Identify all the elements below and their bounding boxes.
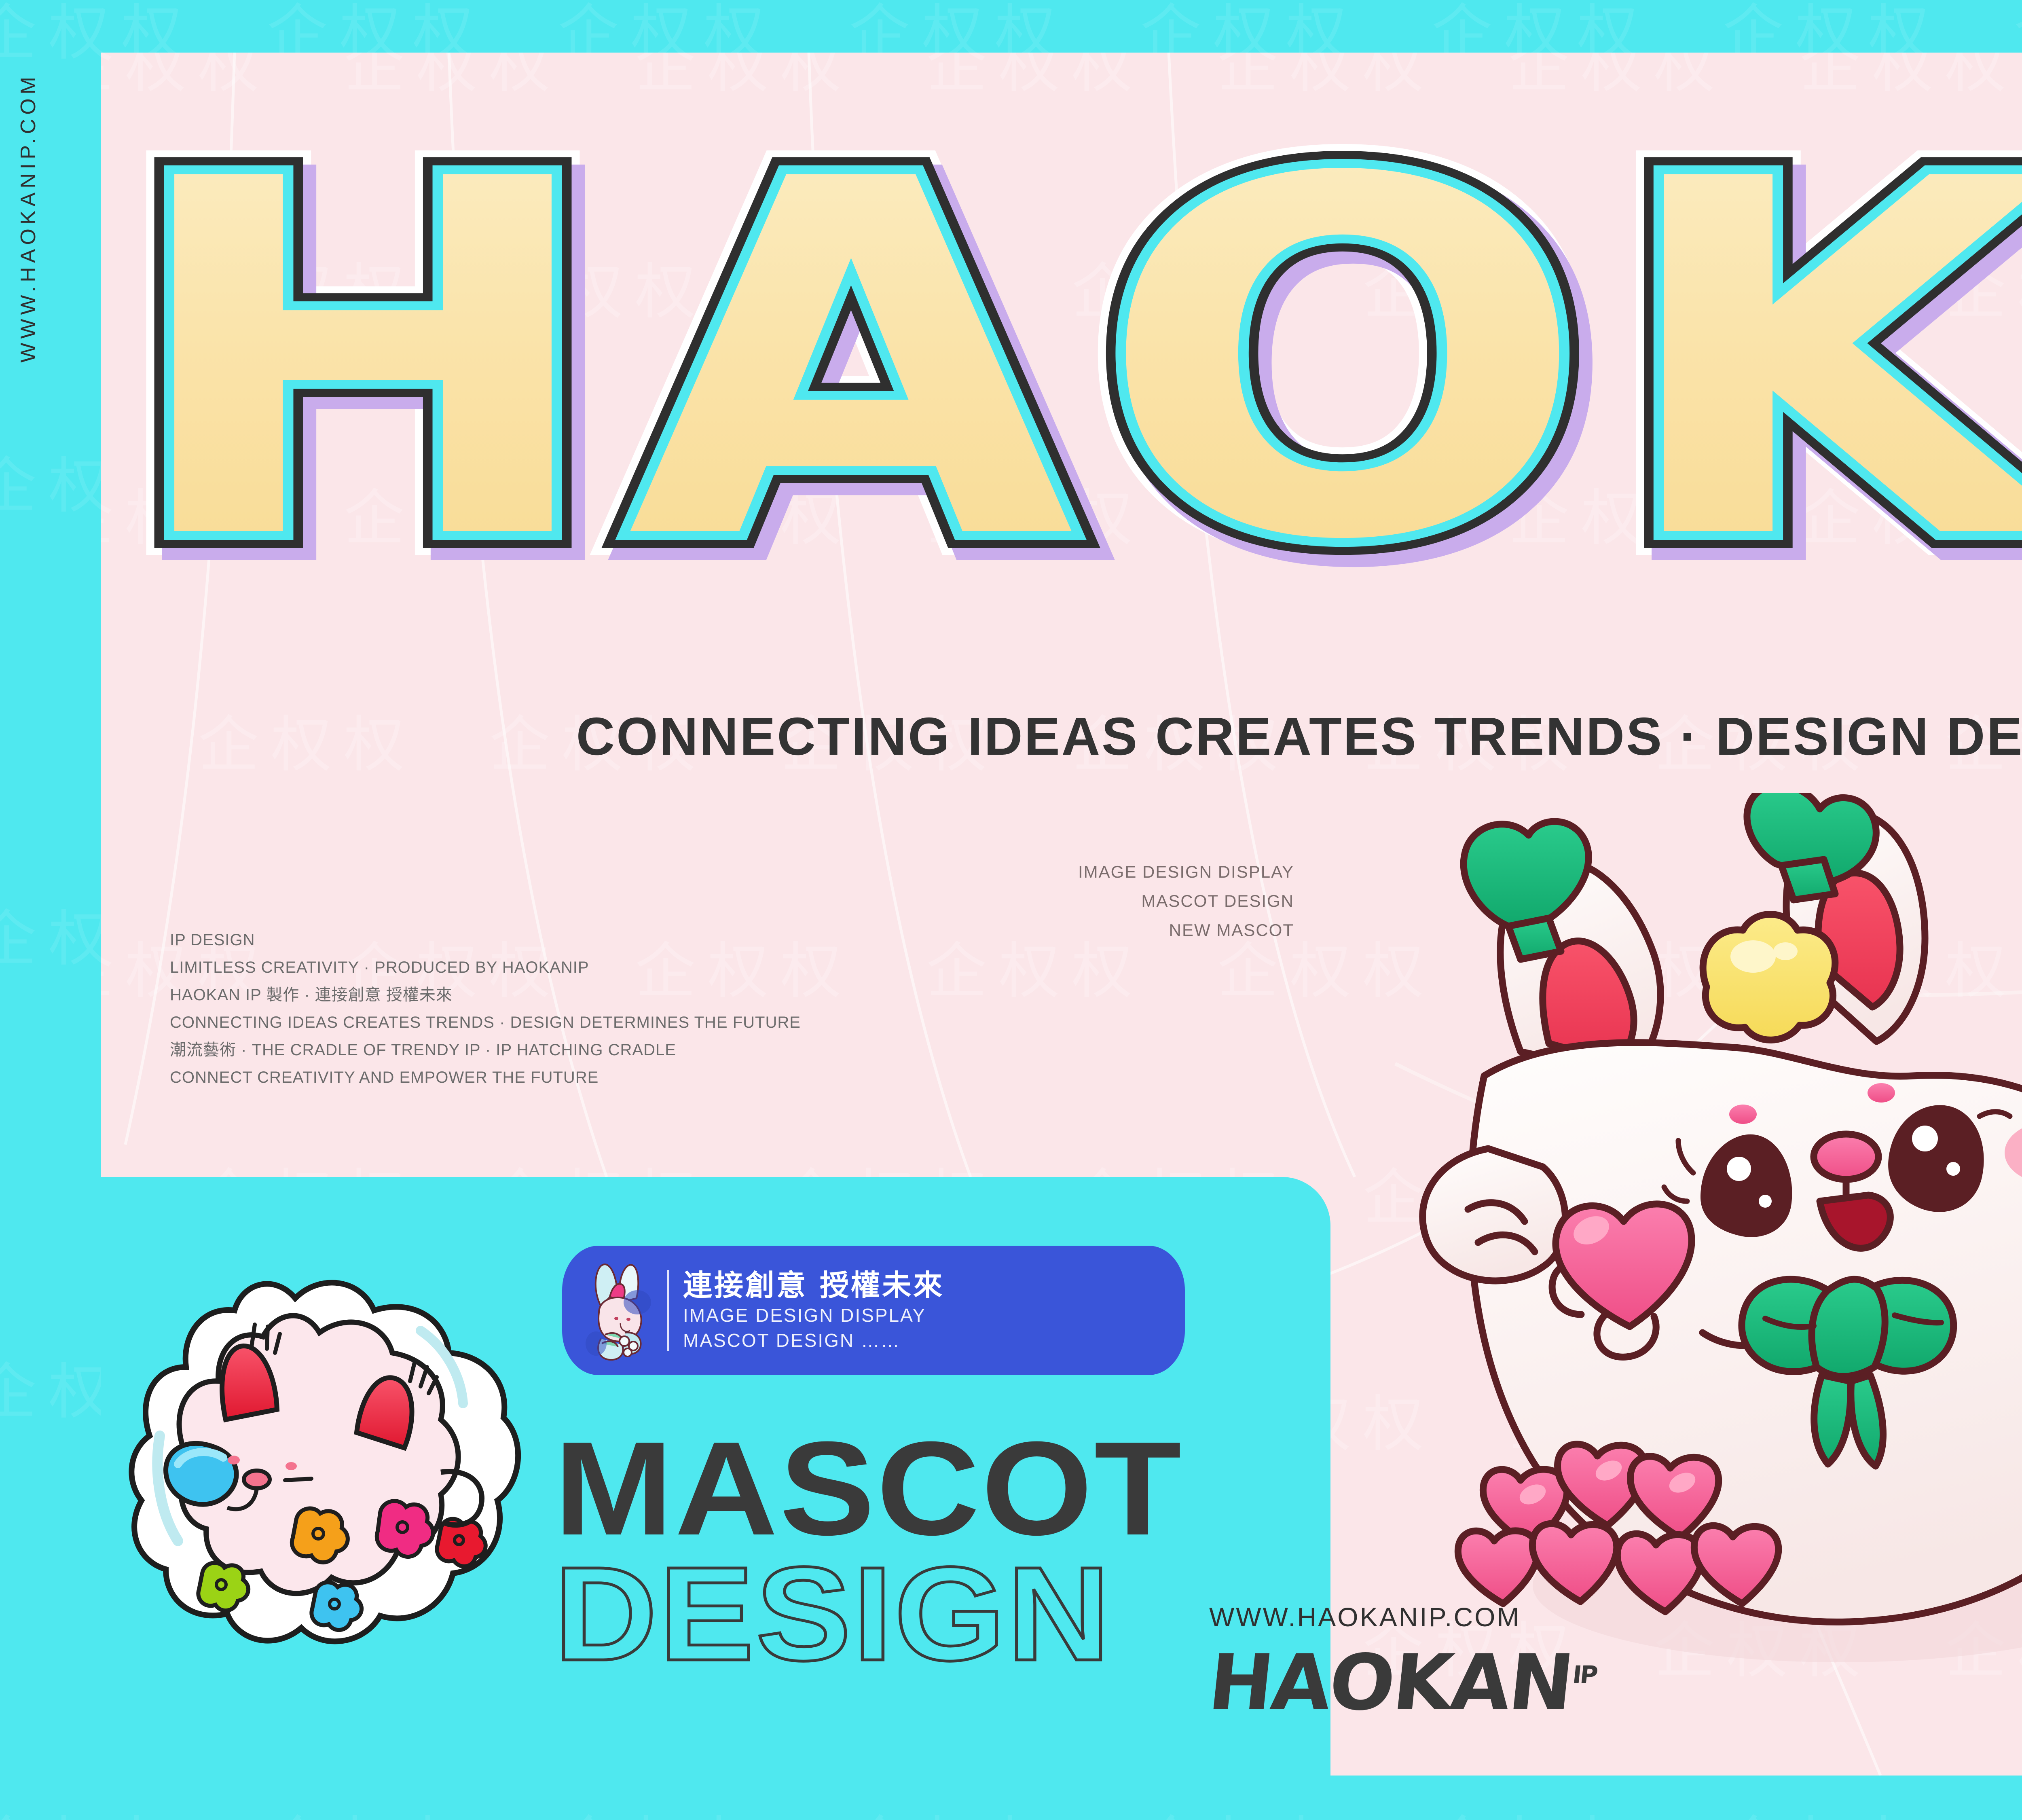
center-line: IMAGE DESIGN DISPLAY [930,857,1294,887]
badge-divider [667,1270,669,1351]
badge-text-group: 連接創意 授權未來 IMAGE DESIGN DISPLAY MASCOT DE… [683,1268,944,1353]
center-copy-block: IMAGE DESIGN DISPLAY MASCOT DESIGN NEW M… [930,857,1294,945]
poster-stage: 企权权企权权企权权企权权企权权企权权企权权企权权企权权企权权企权权企权权企权权企… [0,0,2022,1820]
info-line: LIMITLESS CREATIVITY · PRODUCED BY HAOKA… [170,954,801,981]
watermark-text: 企权权 [1140,1796,1359,1820]
wordmark-design: DESIGN [554,1553,1112,1674]
watermark-text: 企权权 [558,1796,776,1820]
mascot-white-cat [1387,793,2022,1723]
info-line: CONNECTING IDEAS CREATES TRENDS · DESIGN… [170,1009,801,1036]
watermark-text: 企权权 [849,1796,1068,1820]
bottom-website-url: WWW.HAOKANIP.COM [1209,1602,1521,1632]
badge-english-line-2: MASCOT DESIGN …… [683,1328,944,1353]
badge-english-line-1: IMAGE DESIGN DISPLAY [683,1303,944,1328]
info-copy-block: IP DESIGN LIMITLESS CREATIVITY · PRODUCE… [170,926,801,1091]
watermark-text: 企权权 [267,1796,485,1820]
info-line: 潮流藝術 · THE CRADLE OF TRENDY IP · IP HATC… [170,1036,801,1064]
info-line: IP DESIGN [170,926,801,954]
center-line: NEW MASCOT [930,916,1294,945]
info-line: CONNECT CREATIVITY AND EMPOWER THE FUTUR… [170,1064,801,1091]
watermark-text: 企权权 [1432,1796,1650,1820]
logo-ip-superscript: IP [1571,1661,1598,1689]
haokan-title-wrap: HAOKAN HAOKAN HAOKAN HAOKAN HAOKAN [133,69,2022,655]
badge-chinese-title: 連接創意 授權未來 [683,1268,944,1303]
info-line: HAOKAN IP 製作 · 連接創意 授權未來 [170,981,801,1009]
haokan-logo-mark: HAOKANIP [1204,1638,1600,1727]
title-layer-fill: HAOKAN [0,69,2022,655]
center-line: MASCOT DESIGN [930,887,1294,916]
watermark-text: 企权权 [1723,1796,1941,1820]
page-tagline: CONNECTING IDEAS CREATES TRENDS · DESIGN… [101,706,2022,767]
watermark-text: 企权权 [0,1796,194,1820]
logo-text: HAOKAN [1204,1638,1576,1727]
wordmark-mascot: MASCOT [554,1428,1183,1549]
tagline-badge[interactable]: 連接創意 授權未來 IMAGE DESIGN DISPLAY MASCOT DE… [562,1246,1185,1375]
sticker-cat-logo [121,1246,530,1658]
badge-mascot-icon [577,1258,662,1363]
watermark-text: 企权权 [2014,1796,2022,1820]
